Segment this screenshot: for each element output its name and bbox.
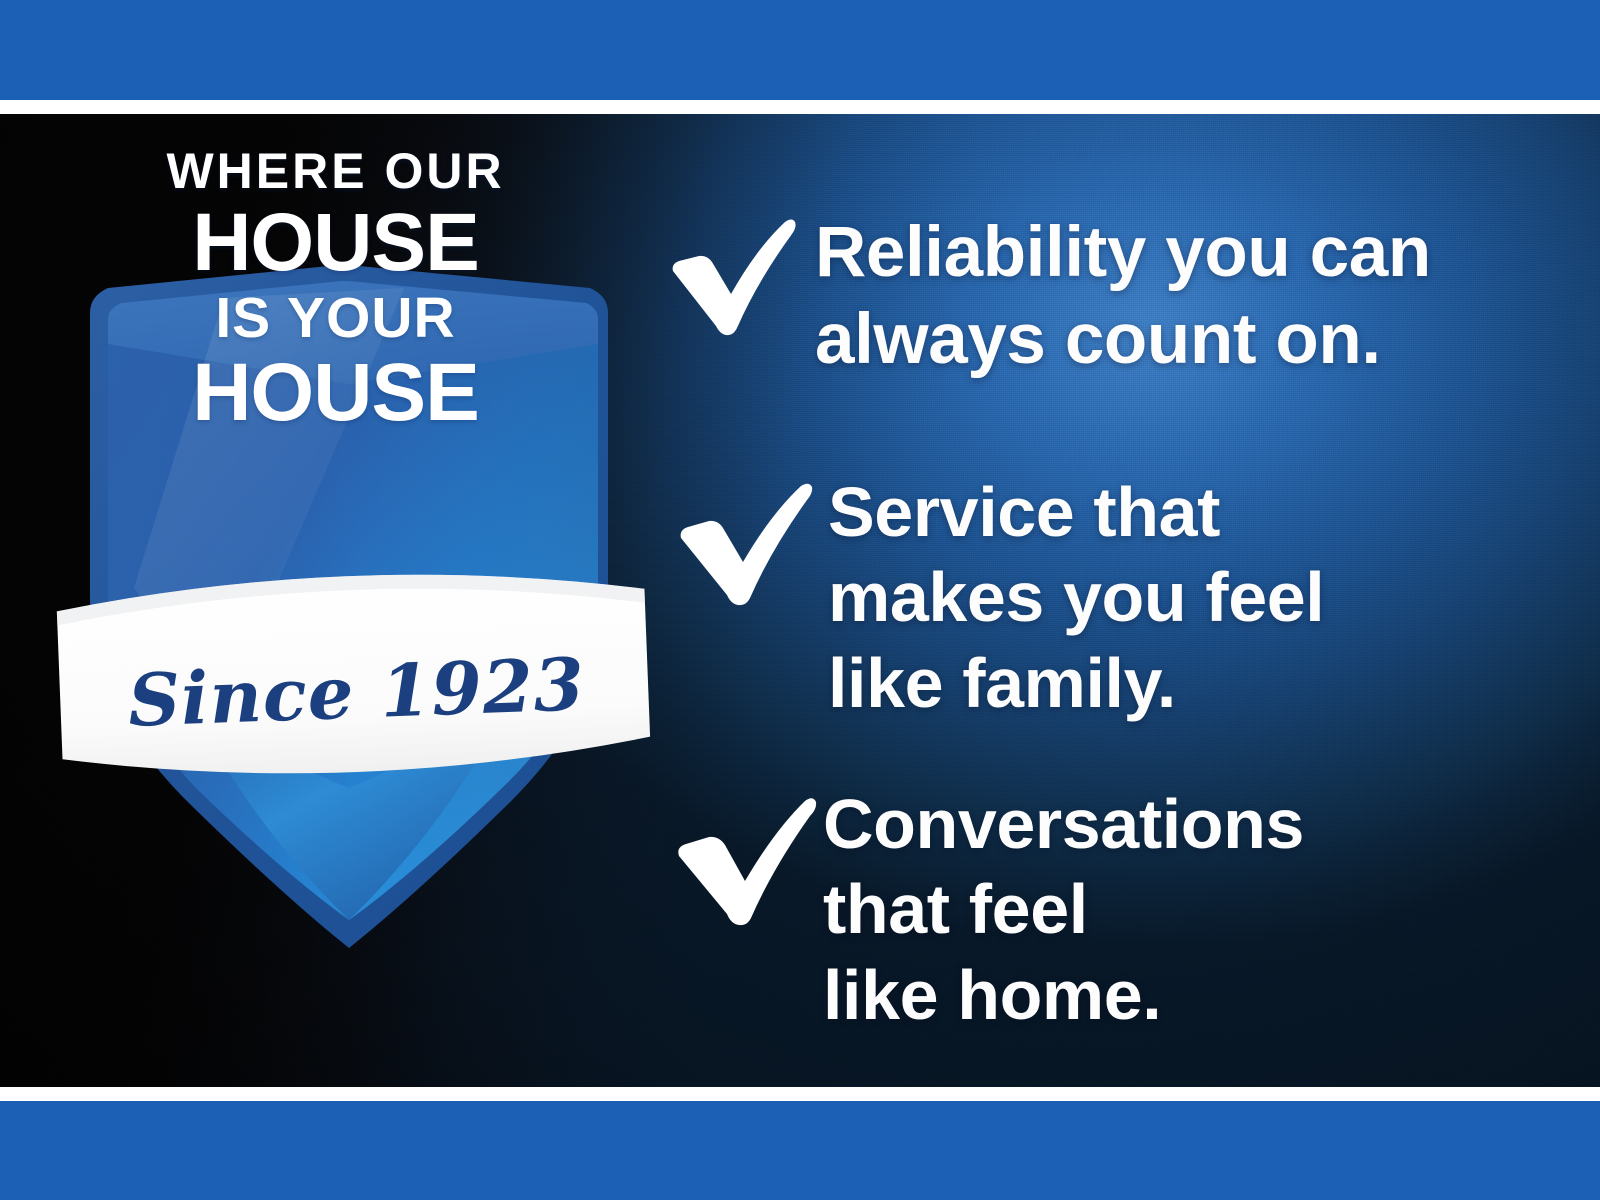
bottom-brand-bar xyxy=(0,1101,1600,1200)
shield-wordmark: WHERE OUR HOUSE IS YOUR HOUSE xyxy=(88,148,583,431)
bottom-separator-line xyxy=(0,1087,1600,1101)
top-separator-line xyxy=(0,100,1600,114)
benefit-text: Conversations that feel like home. xyxy=(823,782,1304,1038)
benefit-item: Reliability you can always count on. xyxy=(665,210,1431,383)
benefit-text: Reliability you can always count on. xyxy=(815,210,1431,383)
benefit-list: Reliability you can always count on. Ser… xyxy=(665,114,1565,1087)
shield-line-4: HOUSE xyxy=(88,354,583,432)
check-icon xyxy=(671,782,823,926)
check-icon xyxy=(673,470,828,606)
benefit-item: Service that makes you feel like family. xyxy=(673,470,1324,726)
shield-line-1: WHERE OUR xyxy=(88,148,583,196)
shield-ribbon-text: Since 1923 xyxy=(127,642,560,743)
check-icon xyxy=(665,210,815,336)
promo-graphic: WHERE OUR HOUSE IS YOUR HOUSE Since 1923… xyxy=(0,0,1600,1200)
benefit-text: Service that makes you feel like family. xyxy=(828,470,1324,726)
top-brand-bar xyxy=(0,0,1600,100)
shield-line-3: IS YOUR xyxy=(88,291,583,345)
shield-line-2: HOUSE xyxy=(88,204,583,282)
benefit-item: Conversations that feel like home. xyxy=(671,782,1304,1038)
